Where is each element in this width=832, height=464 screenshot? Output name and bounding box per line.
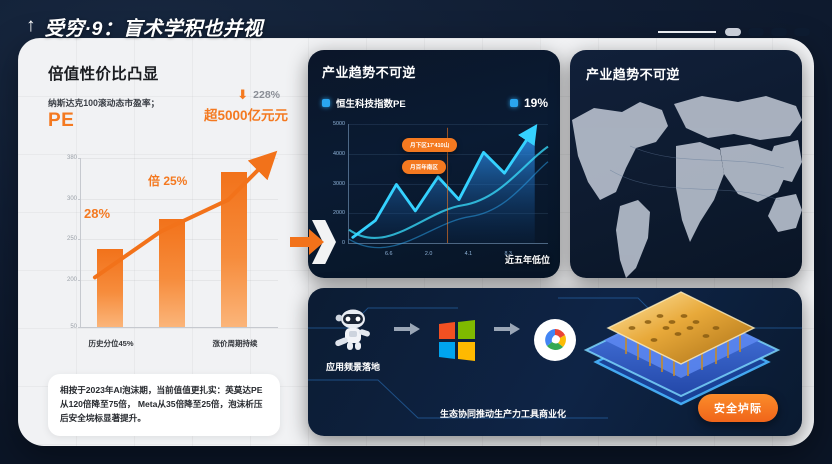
right-panel: 产业趋势不可逆: [570, 50, 802, 278]
mid-panel-title: 产业趋势不可逆: [322, 62, 560, 81]
flow-node-robot: 应用频景落地: [326, 306, 380, 373]
main-card: 倍值性价比凸显 纳斯达克100滚动态市盈率； PE ⬇ 228% 超5000亿元…: [18, 38, 814, 446]
y-axis-tick: 50: [47, 324, 77, 330]
drop-stat-value: 228%: [253, 89, 280, 101]
arrow-right-icon: [290, 229, 324, 255]
legend-item-1: 恒生科技指数PE: [322, 96, 406, 110]
chart-annotation-2: 倍 25%: [148, 172, 187, 189]
top-decoration: [658, 28, 810, 36]
decoration-pill-2: [748, 28, 764, 36]
x-axis-tick: 涨价周期持续: [213, 338, 258, 349]
legend-label-2: 19%: [524, 96, 548, 110]
flow-diagram: 应用频景落地: [326, 306, 576, 373]
legend-item-2: 19%: [510, 96, 548, 110]
bottom-panel: 应用频景落地: [308, 288, 802, 436]
mid-chart-badge-2: 月百年南区: [402, 160, 446, 174]
flow-node-microsoft: [434, 317, 480, 363]
page-title: ↑ 受穷·9：盲术学积也并视: [26, 12, 263, 41]
page-title-text: 受穷·9：盲术学积也并视: [45, 12, 263, 41]
connector-arrow: [290, 220, 336, 264]
microsoft-logo-icon: [434, 317, 480, 363]
decoration-pill-1: [725, 28, 741, 36]
note-box: 相按于2023年AI泡沫期，当前值值更扎实：英莫达PE从120倍降至75倍， M…: [48, 374, 280, 436]
arrow-right-icon: [494, 323, 520, 335]
x-axis-tick: 4.1: [465, 251, 473, 257]
x-axis-tick: 6.6: [385, 251, 393, 257]
y-axis-tick: 3000: [321, 181, 345, 187]
mid-panel-legend: 恒生科技指数PE 19%: [322, 96, 548, 110]
mid-line-chart: 5000 4000 3000 2000 0 6.6 2.0 4.1 8.3: [318, 120, 552, 270]
left-panel-title: 倍值性价比凸显: [48, 62, 296, 84]
square-swatch-icon: [510, 99, 518, 107]
legend-label-1: 恒生科技指数PE: [336, 96, 406, 110]
drop-stat: ⬇ 228%: [237, 88, 280, 101]
safe-badge: 安全垆际: [698, 394, 778, 422]
arrow-right-icon: [394, 323, 420, 335]
y-axis-tick: 380: [47, 155, 77, 161]
square-swatch-icon: [322, 99, 330, 107]
y-axis-tick: 200: [47, 277, 77, 283]
highlight-value: 超5000亿元元: [204, 104, 288, 124]
decoration-pill-4: [794, 28, 810, 36]
y-axis-tick: 5000: [321, 121, 345, 127]
decoration-pill-3: [771, 28, 787, 36]
flow-label-robot: 应用频景落地: [326, 360, 380, 373]
mid-panel-footer: 近五年低位: [505, 253, 550, 266]
robot-icon: [330, 306, 376, 352]
arrow-down-icon: ⬇: [237, 88, 248, 101]
mid-panel: 产业趋势不可逆 恒生科技指数PE 19% 5000 4000 3000 2000: [308, 50, 560, 278]
decoration-line: [658, 31, 716, 33]
right-panel-title: 产业趋势不可逆: [586, 64, 680, 83]
bottom-caption: 生态协同推动生产力工具商业化: [440, 407, 566, 420]
y-axis-tick: 250: [47, 236, 77, 242]
y-axis-tick: 300: [47, 196, 77, 202]
bar-chart: 380 300 250 200 50 历史分位45% 涨价周期持续: [44, 154, 284, 354]
x-axis-tick: 历史分位45%: [88, 338, 133, 349]
arrow-up-icon: ↑: [26, 16, 36, 35]
note-text: 相按于2023年AI泡沫期，当前值值更扎实：英莫达PE从120倍降至75倍， M…: [60, 384, 269, 426]
x-axis-tick: 2.0: [425, 251, 433, 257]
mid-chart-badge-1: 月下区17'410山: [402, 138, 457, 152]
chart-annotation-1: 28%: [84, 206, 110, 221]
world-map-icon: [570, 50, 802, 278]
left-panel: 倍值性价比凸显 纳斯达克100滚动态市盈率； PE ⬇ 228% 超5000亿元…: [30, 48, 296, 436]
y-axis-tick: 2000: [321, 210, 345, 216]
y-axis-tick: 4000: [321, 151, 345, 157]
